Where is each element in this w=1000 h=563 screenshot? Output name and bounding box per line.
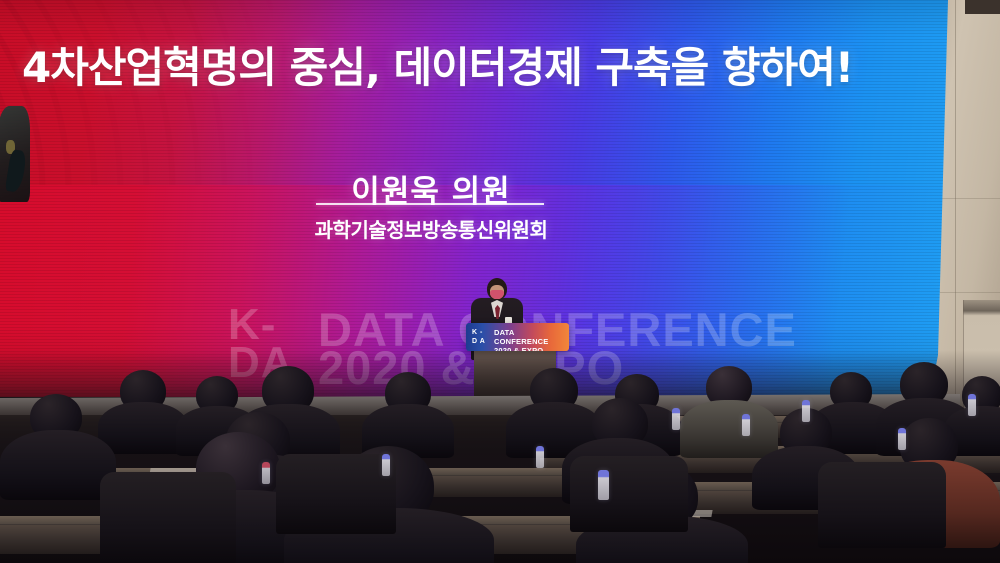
water-bottle xyxy=(802,400,810,422)
water-bottle xyxy=(598,470,609,500)
conference-hall-photo: 4차산업혁명의 중심, 데이터경제 구축을 향하여! 이원욱 의원 과학기술정보… xyxy=(0,0,1000,563)
audience-area xyxy=(0,350,1000,563)
chair-back xyxy=(100,472,236,563)
chair-back xyxy=(818,462,946,548)
slide-speaker-org: 과학기술정보방송통신위원회 xyxy=(296,214,566,243)
water-bottle xyxy=(898,428,906,450)
podium-sign-logo: K - D A xyxy=(472,328,490,346)
audience-shoulders xyxy=(0,430,116,500)
audience-shoulders xyxy=(680,400,778,458)
podium-sign-text: DATA CONFERENCE 2020 & EXPO xyxy=(494,328,569,351)
slide-divider-rule xyxy=(316,203,544,205)
podium-branding-sign: K - D A DATA CONFERENCE 2020 & EXPO xyxy=(466,323,569,351)
water-bottle xyxy=(672,408,680,430)
chair-back xyxy=(276,454,396,534)
water-bottle xyxy=(742,414,750,436)
water-bottle xyxy=(536,446,544,468)
podium-text-line1: DATA CONFERENCE xyxy=(494,328,569,346)
audience-shoulders xyxy=(98,402,188,454)
podium-logo-line2: D A xyxy=(472,337,490,346)
chair-back xyxy=(570,456,688,532)
water-bottle xyxy=(382,454,390,476)
ceiling-shadow xyxy=(965,0,1000,14)
water-bottle xyxy=(262,462,270,484)
water-bottle xyxy=(968,394,976,416)
slide-headline: 4차산업혁명의 중심, 데이터경제 구축을 향하여! xyxy=(22,34,812,95)
podium-logo-line1: K - xyxy=(472,328,490,337)
